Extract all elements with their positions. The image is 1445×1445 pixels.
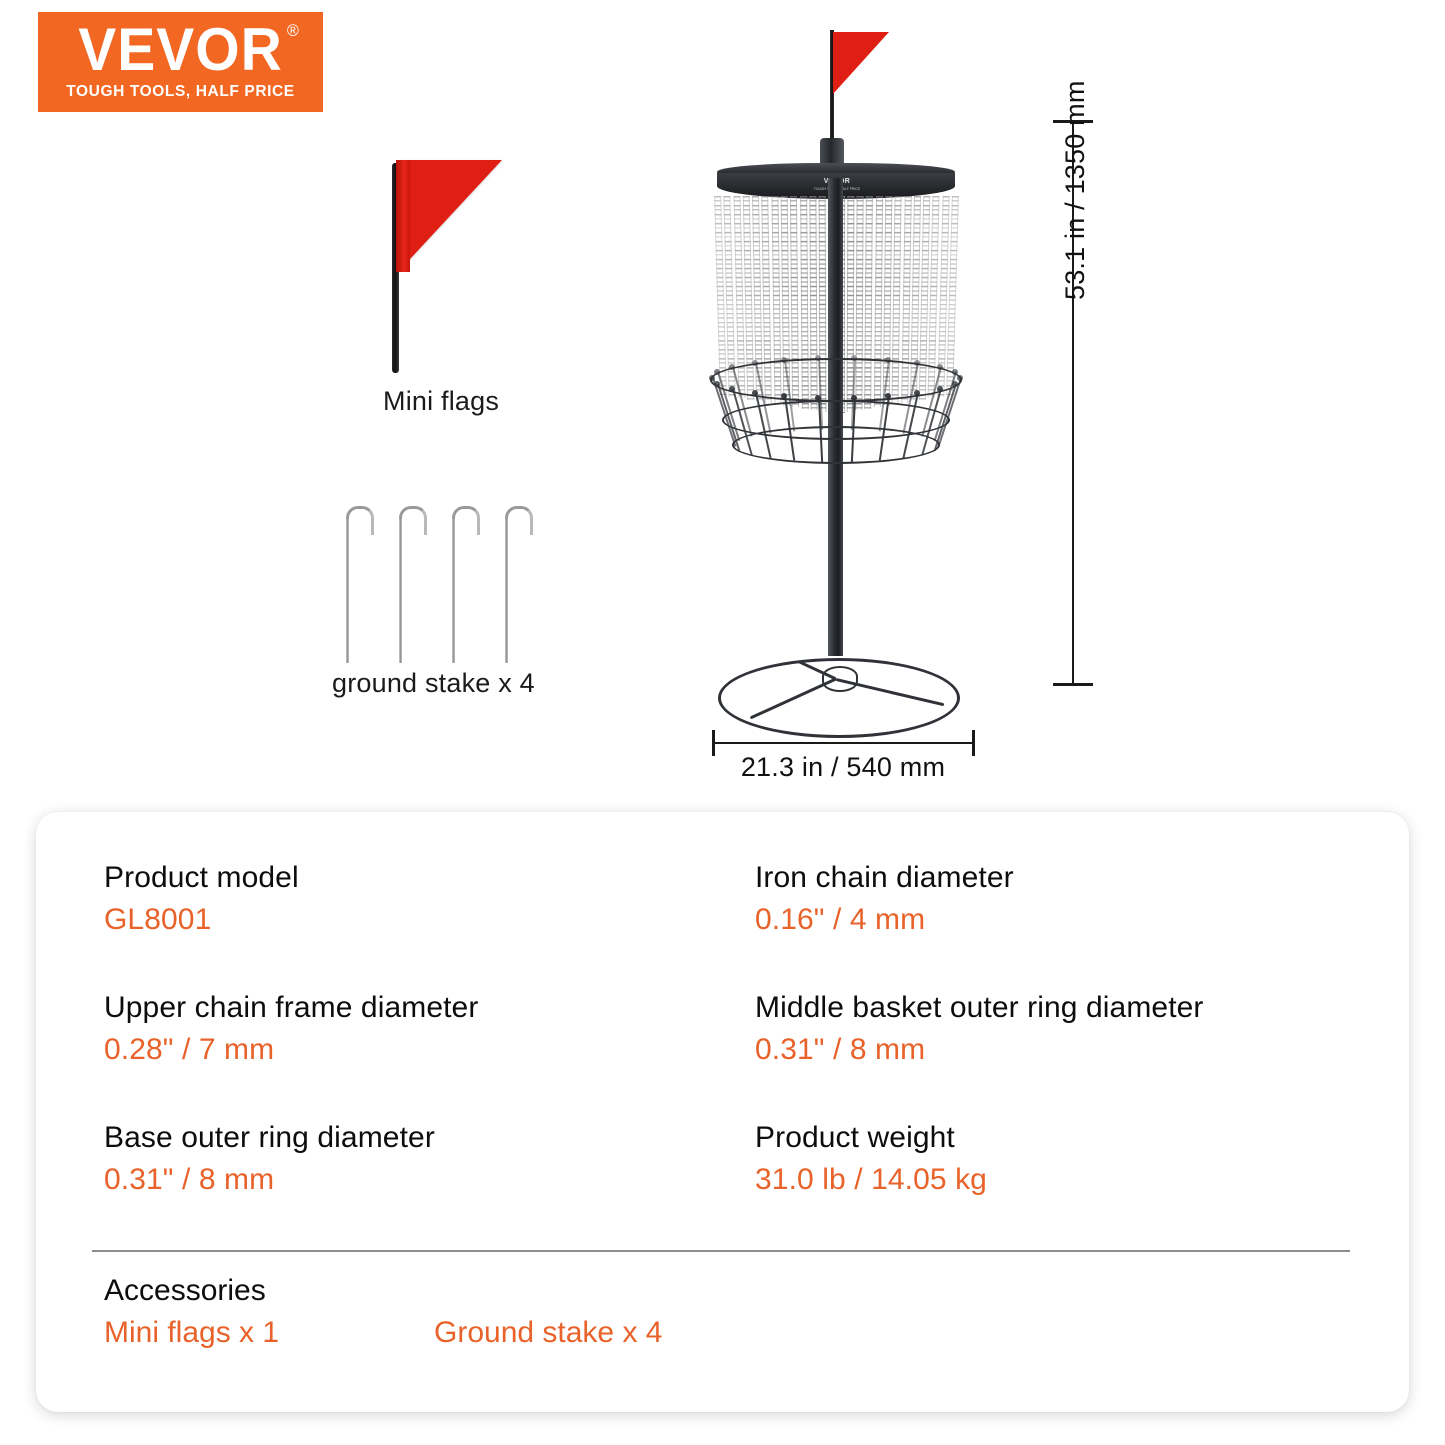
flag-cloth: [398, 160, 502, 272]
basket-wire-node: [851, 355, 857, 361]
spec-value: 0.31" / 8 mm: [755, 1032, 1336, 1068]
basket-wire-node: [752, 360, 758, 366]
spec-cell-iron-chain-diameter: Iron chain diameter 0.16" / 4 mm: [729, 860, 1354, 938]
basket-wire-node: [729, 364, 735, 370]
middle-basket: [708, 358, 964, 483]
basket-wire-node: [752, 390, 758, 396]
spec-label: Upper chain frame diameter: [104, 990, 711, 1026]
spec-label: Middle basket outer ring diameter: [755, 990, 1336, 1026]
height-dimension-label: 53.1 in / 1350 mm: [1060, 80, 1091, 300]
flag-sleeve: [396, 160, 410, 272]
accessories-section: Accessories Mini flags x 1 Ground stake …: [104, 1274, 1354, 1350]
specification-card: Product model GL8001 Iron chain diameter…: [36, 812, 1409, 1412]
spec-label: Base outer ring diameter: [104, 1120, 711, 1156]
spec-label: Product model: [104, 860, 711, 896]
stake-shaft: [346, 519, 349, 663]
accessories-divider: [92, 1250, 1350, 1252]
ground-stake-caption: ground stake x 4: [332, 668, 662, 699]
accessory-item-ground-stake: Ground stake x 4: [434, 1316, 662, 1350]
spec-label: Product weight: [755, 1120, 1336, 1156]
spec-cell-product-weight: Product weight 31.0 lb / 14.05 kg: [729, 1120, 1354, 1198]
stake-hook-icon: [452, 506, 480, 535]
width-dimension-line: [712, 742, 974, 744]
ground-stake-4: [504, 505, 538, 663]
basket-wire-node: [885, 357, 891, 363]
mini-flags-caption: Mini flags: [383, 386, 643, 417]
disc-golf-basket-illustration: VEVOR TOUGH TOOLS, HALF PRICE: [690, 18, 990, 748]
ground-stakes-illustration: [345, 505, 555, 665]
basket-wire-node: [729, 386, 735, 392]
specification-grid: Product model GL8001 Iron chain diameter…: [104, 860, 1354, 1250]
spec-value: 0.28" / 7 mm: [104, 1032, 711, 1068]
spec-value: GL8001: [104, 902, 711, 938]
spec-label: Iron chain diameter: [755, 860, 1336, 896]
width-dimension-label: 21.3 in / 540 mm: [712, 752, 974, 783]
spec-row: Product model GL8001 Iron chain diameter…: [104, 860, 1354, 938]
spec-value: 0.16" / 4 mm: [755, 902, 1336, 938]
stake-shaft: [505, 519, 508, 663]
stake-shaft: [452, 519, 455, 663]
accessories-list: Mini flags x 1 Ground stake x 4: [104, 1316, 1354, 1350]
accessory-item-mini-flags: Mini flags x 1: [104, 1316, 434, 1350]
stake-hook-icon: [346, 506, 374, 535]
spec-value: 31.0 lb / 14.05 kg: [755, 1162, 1336, 1198]
basket-wire-node: [709, 375, 715, 381]
ground-stake-3: [451, 505, 485, 663]
hero-illustration: Mini flags ground stake x 4 VEVOR TOUGH …: [0, 0, 1445, 800]
basket-top-flag: [830, 30, 900, 150]
spec-cell-upper-chain-frame-diameter: Upper chain frame diameter 0.28" / 7 mm: [104, 990, 729, 1068]
basket-outer-ring-top: [710, 358, 962, 402]
top-flag-cloth: [833, 32, 889, 94]
product-spec-page: VEVOR® TOUGH TOOLS, HALF PRICE Mini flag…: [0, 0, 1445, 1445]
spec-cell-product-model: Product model GL8001: [104, 860, 729, 938]
spec-cell-middle-basket-outer-ring-diameter: Middle basket outer ring diameter 0.31" …: [729, 990, 1354, 1068]
base-ring-assembly: [718, 648, 958, 738]
basket-wire-node: [957, 375, 963, 381]
stake-hook-icon: [505, 506, 533, 535]
accessories-title: Accessories: [104, 1274, 1354, 1308]
height-dimension-cap-bottom: [1053, 683, 1093, 686]
stake-shaft: [399, 519, 402, 663]
spec-row: Upper chain frame diameter 0.28" / 7 mm …: [104, 990, 1354, 1068]
spec-value: 0.31" / 8 mm: [104, 1162, 711, 1198]
stake-hook-icon: [399, 506, 427, 535]
spec-cell-base-outer-ring-diameter: Base outer ring diameter 0.31" / 8 mm: [104, 1120, 729, 1198]
ground-stake-2: [398, 505, 432, 663]
spec-row: Base outer ring diameter 0.31" / 8 mm Pr…: [104, 1120, 1354, 1198]
ground-stake-1: [345, 505, 379, 663]
mini-flag-illustration: [392, 158, 512, 373]
